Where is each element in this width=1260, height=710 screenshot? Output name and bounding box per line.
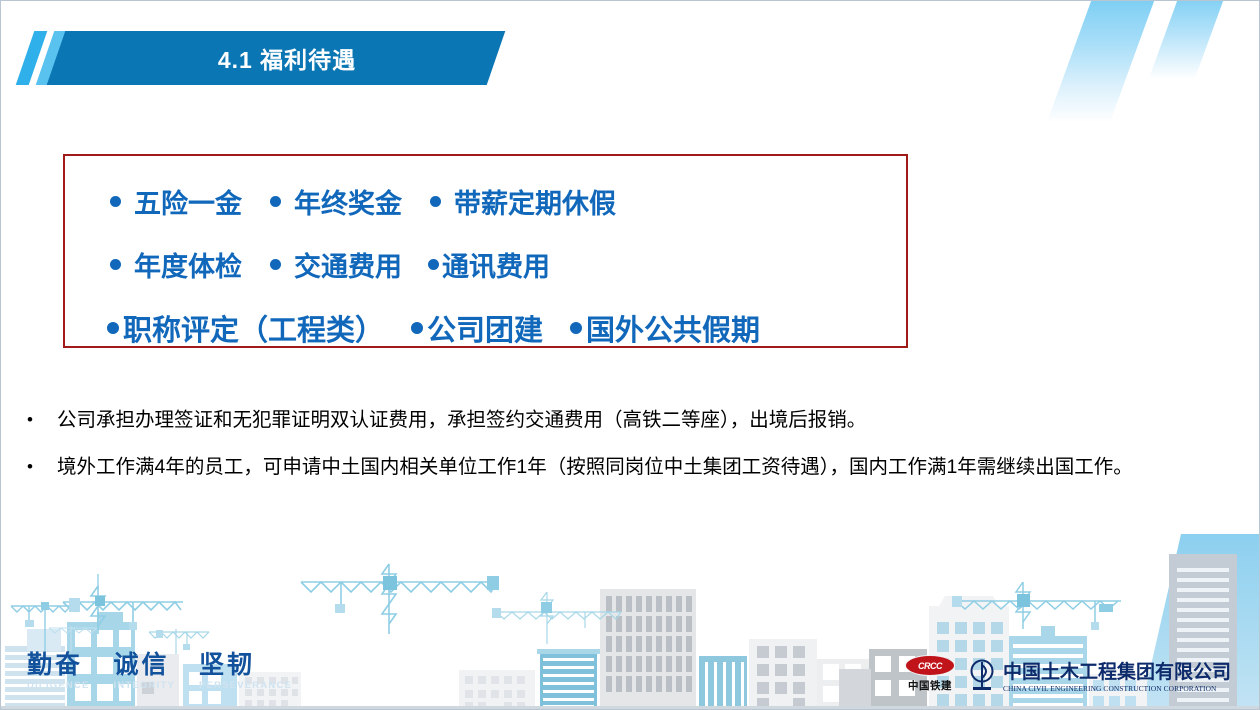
benefit-item: 五险一金 [110,182,242,221]
benefit-item: 年终奖金 [270,182,402,221]
ccecc-logo-name-cn: 中国土木工程集团有限公司 [1003,663,1231,683]
slogan-word: 勤奋 DILIGENCE [27,652,90,691]
benefit-label: 通讯费用 [442,245,550,284]
slogan-word: 诚信 INTEGRITY [114,652,175,691]
slogan-en: DILIGENCE [27,680,90,691]
footer-slogan: 勤奋 DILIGENCE 诚信 INTEGRITY 坚韧 PERSEVERANC… [27,652,292,691]
benefit-label: 交通费用 [294,245,402,284]
benefit-label: 年度体检 [134,245,242,284]
bullet-marker-icon: • [19,405,57,435]
bullet-dot-icon [430,196,441,207]
slogan-word: 坚韧 PERSEVERANCE [199,652,292,691]
list-item-text: 公司承担办理签证和无犯罪证明双认证费用，承担签约交通费用（高铁二等座），出境后报… [57,405,1139,435]
slogan-en: PERSEVERANCE [199,680,292,691]
bullet-dot-icon [428,259,439,270]
list-item: • 公司承担办理签证和无犯罪证明双认证费用，承担签约交通费用（高铁二等座），出境… [19,405,1139,435]
page-title: 4.1 福利待遇 [56,31,496,85]
benefit-item: 职称评定（工程类） [107,307,384,349]
bullet-dot-icon [110,196,121,207]
slide-canvas: 4.1 福利待遇 五险一金 年终奖金 带薪定期休假 年度体检 [0,0,1260,710]
ccecc-logo-name-en: CHINA CIVIL ENGINEERING CONSTRUCTION COR… [1003,684,1231,693]
crcc-logo: CRCC 中国铁建 [905,655,955,693]
ccecc-logo-mark-icon [967,659,997,693]
benefit-item: 通讯费用 [428,245,550,284]
list-item-text: 境外工作满4年的员工，可申请中土国内相关单位工作1年（按照同岗位中土集团工资待遇… [57,452,1139,482]
benefit-label: 职称评定（工程类） [123,307,384,349]
crcc-logo-mark-icon: CRCC [905,655,955,676]
benefit-item: 年度体检 [110,245,242,284]
benefits-row: 年度体检 交通费用 通讯费用 [65,233,906,296]
ccecc-logo-text: 中国土木工程集团有限公司 CHINA CIVIL ENGINEERING CON… [1003,663,1231,693]
bullet-dot-icon [570,322,582,334]
ccecc-logo: 中国土木工程集团有限公司 CHINA CIVIL ENGINEERING CON… [967,659,1231,693]
benefit-item: 公司团建 [411,307,543,349]
benefit-label: 公司团建 [427,307,543,349]
benefit-item: 带薪定期休假 [430,182,616,221]
benefit-label: 带薪定期休假 [454,182,616,221]
bullet-dot-icon [110,259,121,270]
benefit-label: 五险一金 [134,182,242,221]
benefit-label: 国外公共假期 [586,307,760,349]
slogan-cn: 诚信 [114,652,175,679]
body-bullet-list: • 公司承担办理签证和无犯罪证明双认证费用，承担签约交通费用（高铁二等座），出境… [19,405,1139,499]
benefits-row: 五险一金 年终奖金 带薪定期休假 [65,170,906,233]
slogan-cn: 勤奋 [27,652,90,679]
footer-logos: CRCC 中国铁建 中国土木工程集团有限公司 CHINA CIVIL ENGIN… [905,655,1231,693]
bullet-dot-icon [270,259,281,270]
benefit-label: 年终奖金 [294,182,402,221]
benefits-box: 五险一金 年终奖金 带薪定期休假 年度体检 交通费用 通讯费用 [63,154,908,348]
bullet-dot-icon [107,322,119,334]
crcc-logo-mark-text: CRCC [918,661,942,671]
bullet-dot-icon [411,322,423,334]
benefits-row: 职称评定（工程类） 公司团建 国外公共假期 [65,296,906,359]
slide-header: 4.1 福利待遇 [1,31,1259,87]
slogan-cn: 坚韧 [199,652,292,679]
list-item: • 境外工作满4年的员工，可申请中土国内相关单位工作1年（按照同岗位中土集团工资… [19,452,1139,482]
benefit-item: 交通费用 [270,245,402,284]
crcc-logo-name: 中国铁建 [905,678,955,693]
bullet-marker-icon: • [19,452,57,482]
slogan-en: INTEGRITY [114,680,175,691]
bullet-dot-icon [270,196,281,207]
benefit-item: 国外公共假期 [570,307,760,349]
